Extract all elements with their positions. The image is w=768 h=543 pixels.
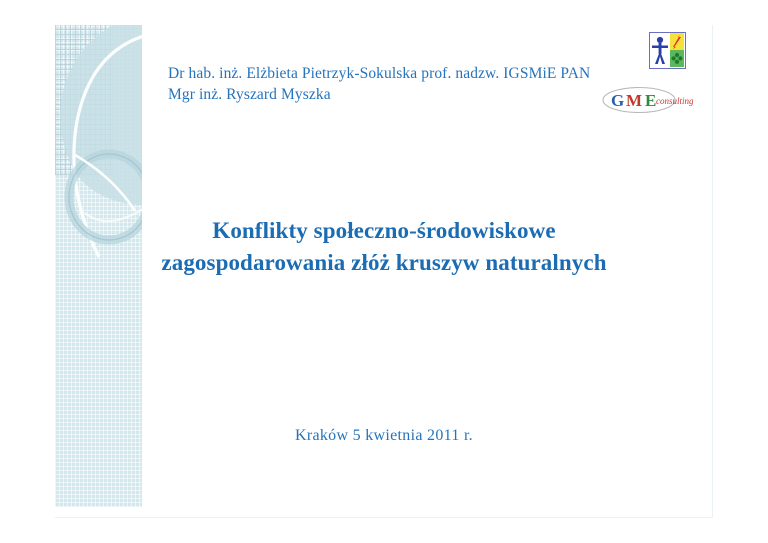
author-line-1: Dr hab. inż. Elżbieta Pietrzyk-Sokulska … — [168, 63, 638, 84]
gme-letter-e: E — [645, 91, 656, 110]
gme-consulting-logo: G M E consulting — [601, 85, 697, 115]
title-line-1: Konflikty społeczno-środowiskowe — [55, 215, 713, 247]
igsmie-pan-logo — [649, 32, 686, 69]
title-line-2: zagospodarowania złóż kruszyw naturalnyc… — [55, 247, 713, 279]
author-line-2: Mgr inż. Ryszard Myszka — [168, 84, 638, 105]
place-and-date: Kraków 5 kwietnia 2011 r. — [55, 427, 713, 445]
slide-canvas: Dr hab. inż. Elżbieta Pietrzyk-Sokulska … — [55, 25, 713, 518]
gme-letter-g: G — [611, 91, 624, 110]
author-header: Dr hab. inż. Elżbieta Pietrzyk-Sokulska … — [168, 63, 638, 105]
gme-letter-m: M — [626, 91, 642, 110]
page-title: Konflikty społeczno-środowiskowe zagospo… — [55, 215, 713, 279]
gme-tagline: consulting — [656, 96, 694, 106]
